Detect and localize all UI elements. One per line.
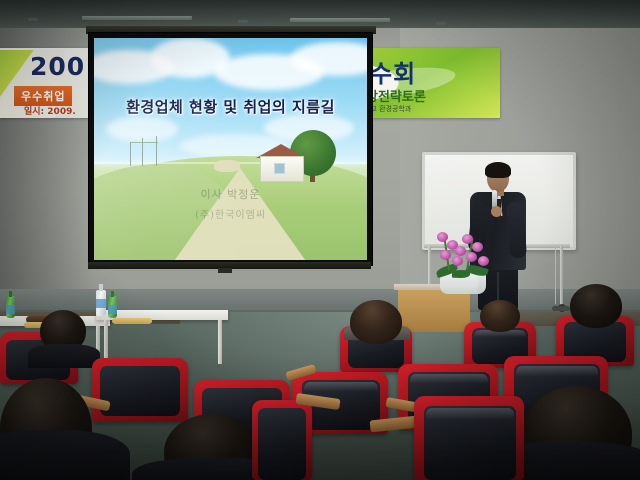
orchid-flower <box>466 252 477 262</box>
ceiling-light-fixture <box>82 16 192 20</box>
orchid-flower <box>455 246 466 256</box>
wooden-podium <box>398 288 470 332</box>
audience-shoulders-foreground <box>0 430 130 480</box>
audience-head-foreground <box>350 300 402 344</box>
screen-pull-tab[interactable] <box>218 268 232 273</box>
white-bottle <box>96 290 106 316</box>
banner-right-title: 수회 <box>370 54 416 89</box>
ceiling-light-fixture <box>290 18 390 22</box>
chair-highlight <box>410 374 488 390</box>
audience-head <box>570 284 622 328</box>
snack-item <box>112 318 152 324</box>
chair-cushion <box>100 366 180 416</box>
chair-highlight <box>516 366 598 384</box>
whiteboard-foot <box>552 306 570 311</box>
audience-head <box>480 300 520 332</box>
whiteboard-stand-leg <box>560 246 563 308</box>
chair-highlight <box>426 408 514 428</box>
projected-slide: 환경업체 현황 및 취업의 지름길 이사 박정운 (주)한국이엠씨 <box>94 38 367 260</box>
lecture-hall-photo: 200 우수취업 일시: 2009. 수회 강전략토론 학교 환경공학과 <box>0 0 640 480</box>
audience-shoulders <box>28 344 100 368</box>
orchid-flower <box>478 256 489 266</box>
bottle-label <box>6 305 15 314</box>
utility-pole-icon <box>156 136 157 166</box>
green-bottle <box>108 296 117 318</box>
banner-highlight-label: 우수취업 <box>14 86 72 106</box>
slide-organization: (주)한국이엠씨 <box>94 206 367 221</box>
banner-right-subtitle: 강전략토론 <box>366 86 426 105</box>
ceiling-light-fixture <box>238 20 248 23</box>
slide-title: 환경업체 현황 및 취업의 지름길 <box>94 96 367 117</box>
orchid-flower <box>462 234 473 244</box>
bottle-label <box>96 299 106 308</box>
power-line <box>130 142 158 143</box>
table-leg <box>218 320 222 364</box>
ceiling-light-fixture <box>28 18 38 21</box>
banner-date-label: 일시: 2009. <box>24 104 76 117</box>
orchid-flower <box>440 250 451 260</box>
banner-year-text: 200 <box>30 52 85 81</box>
utility-pole-icon <box>130 142 131 166</box>
chair-cushion <box>258 408 306 480</box>
slide-presenter-name: 이사 박정운 <box>94 186 367 202</box>
orchid-flower <box>437 232 448 242</box>
speaker-hair <box>485 162 511 178</box>
green-bottle <box>6 296 15 318</box>
bottle-label <box>108 305 117 314</box>
orchid-flower <box>452 256 463 266</box>
orchid-flower <box>472 242 483 252</box>
orchid-leaf <box>452 270 470 279</box>
ceiling-light-fixture <box>436 22 446 25</box>
hanging-cord <box>555 246 556 304</box>
speaker-hand <box>491 206 502 217</box>
projection-screen-frame: 환경업체 현황 및 취업의 지름길 이사 박정운 (주)한국이엠씨 <box>88 32 373 266</box>
